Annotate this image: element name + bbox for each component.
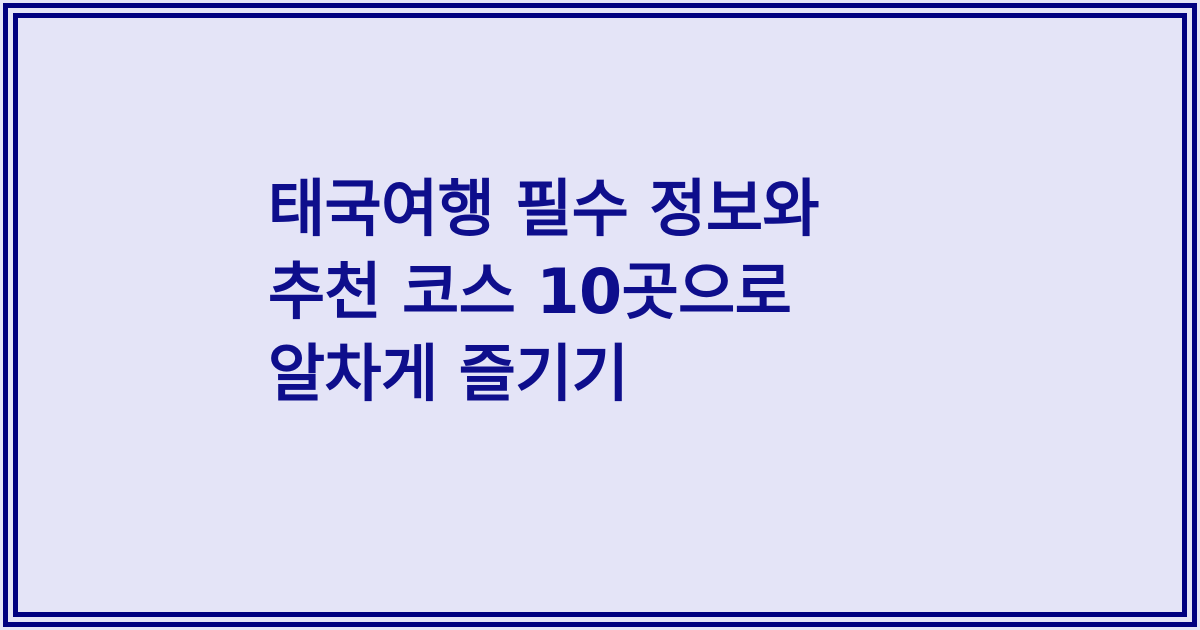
banner-card: 태국여행 필수 정보와 추천 코스 10곳으로 알차게 즐기기 (0, 0, 1200, 630)
page-title: 태국여행 필수 정보와 추천 코스 10곳으로 알차게 즐기기 (268, 168, 819, 415)
title-block: 태국여행 필수 정보와 추천 코스 10곳으로 알차게 즐기기 (0, 0, 1200, 630)
